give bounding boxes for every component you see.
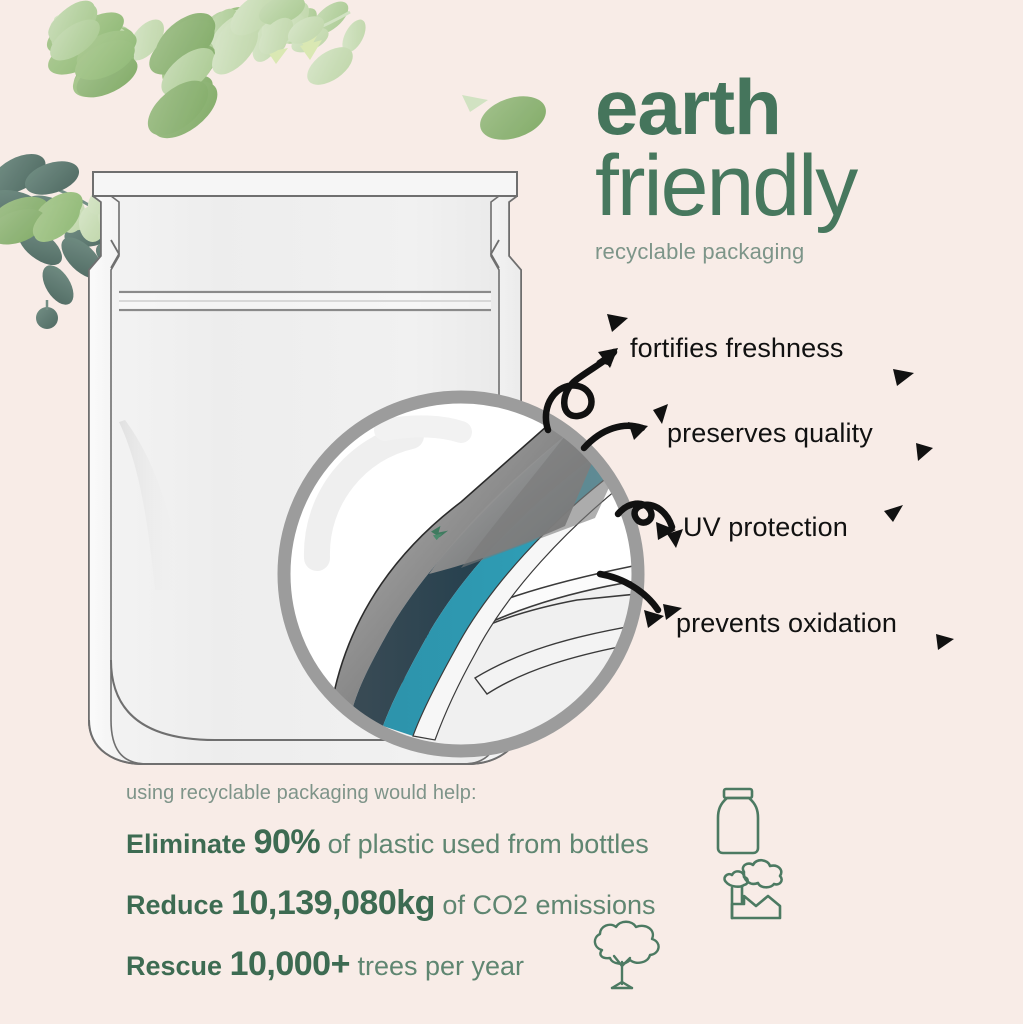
tree-icon bbox=[572, 918, 672, 994]
page-title: earth friendly recyclable packaging bbox=[595, 72, 1015, 265]
sparkle-marks bbox=[607, 314, 954, 650]
factory-icon bbox=[718, 856, 790, 922]
stat-value: 10,139,080kg bbox=[231, 884, 435, 922]
headline-line1: earth bbox=[595, 72, 1015, 144]
headline-line2: friendly bbox=[595, 146, 1015, 228]
stat-verb: Rescue bbox=[126, 951, 222, 981]
magnifier-cross-section bbox=[265, 378, 657, 770]
stat-verb: Eliminate bbox=[126, 829, 246, 859]
stat-value: 90% bbox=[254, 823, 321, 861]
stat-verb: Reduce bbox=[126, 890, 224, 920]
feature-label-fortifies-freshness: fortifies freshness bbox=[630, 333, 843, 364]
bottle-icon bbox=[712, 786, 764, 856]
right-leaf-cluster bbox=[223, 0, 329, 60]
feature-label-preserves-quality: preserves quality bbox=[667, 418, 873, 449]
stat-row-rescue: Rescue 10,000+ trees per year bbox=[126, 945, 846, 984]
infographic-canvas: earth friendly recyclable packaging fort… bbox=[0, 0, 1023, 1024]
olive-sprig bbox=[256, 7, 350, 64]
stat-tail: of CO2 emissions bbox=[442, 890, 655, 920]
stat-tail: of plastic used from bottles bbox=[328, 829, 649, 859]
feature-label-prevents-oxidation: prevents oxidation bbox=[676, 608, 897, 639]
stat-value: 10,000+ bbox=[230, 945, 350, 983]
headline-subtitle: recyclable packaging bbox=[595, 239, 1015, 265]
feature-label-uv-protection: UV protection bbox=[683, 512, 848, 543]
stat-tail: trees per year bbox=[357, 951, 524, 981]
